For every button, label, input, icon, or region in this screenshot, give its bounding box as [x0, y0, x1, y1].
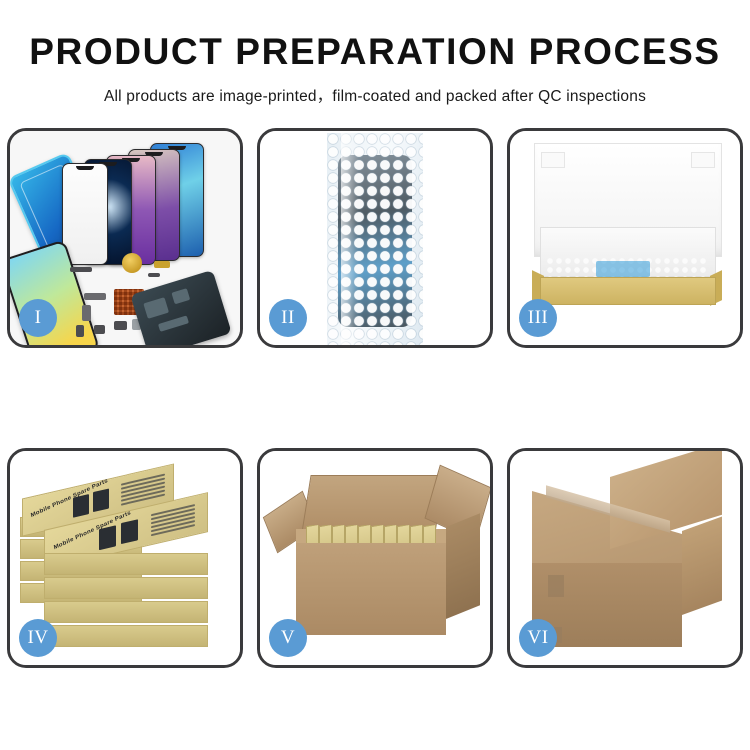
step-badge-6: VI: [519, 619, 557, 657]
process-step-panel-1[interactable]: I: [7, 128, 243, 348]
carton-right-face: [446, 513, 480, 619]
step-badge-4: IV: [19, 619, 57, 657]
page-header: PRODUCT PREPARATION PROCESS All products…: [0, 0, 750, 106]
step-badge-2: II: [269, 299, 307, 337]
scene-open-carton: V: [260, 451, 490, 665]
scene-phone-parts: I: [10, 131, 240, 345]
infographic-page: PRODUCT PREPARATION PROCESS All products…: [0, 0, 750, 750]
scene-sealed-carton: VI: [510, 451, 740, 665]
step-badge-1: I: [19, 299, 57, 337]
page-title: PRODUCT PREPARATION PROCESS: [0, 32, 750, 73]
process-step-panel-2[interactable]: II: [257, 128, 493, 348]
scene-stacked-boxes: Mobile Phone Spare Parts Mobile Phone Sp…: [10, 451, 240, 665]
scene-open-inner-box: III: [510, 131, 740, 345]
box-front-panel: [540, 277, 716, 305]
carton-front-face: [296, 543, 446, 635]
process-step-panel-6[interactable]: VI: [507, 448, 743, 668]
scene-bubble-wrap: II: [260, 131, 490, 345]
process-step-panel-3[interactable]: III: [507, 128, 743, 348]
process-step-panel-5[interactable]: V: [257, 448, 493, 668]
process-step-panel-4[interactable]: Mobile Phone Spare Parts Mobile Phone Sp…: [7, 448, 243, 668]
step-badge-3: III: [519, 299, 557, 337]
step-badge-5: V: [269, 619, 307, 657]
process-steps-grid: I II: [7, 128, 743, 668]
carton-right-face: [682, 516, 722, 615]
bubble-wrap-bag: [327, 133, 423, 345]
page-subtitle: All products are image-printed，film-coat…: [0, 84, 750, 106]
